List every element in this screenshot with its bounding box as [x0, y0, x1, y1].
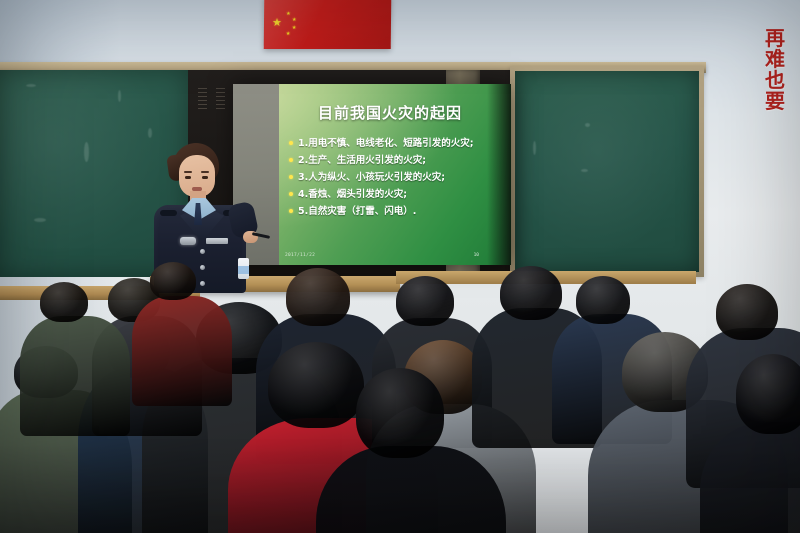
bullet-dot-icon: [289, 158, 293, 162]
list-item: 1.用电不慎、电线老化、短路引发的火灾;: [289, 137, 504, 150]
wall-motto: 再 难 也 要: [758, 28, 792, 112]
list-item: 4.香烛、烟头引发的火灾;: [289, 188, 504, 201]
motto-char-1: 再: [758, 28, 792, 49]
audience-person-head: [500, 266, 562, 320]
audience: [0, 250, 800, 533]
china-flag: ★ ★ ★ ★ ★: [264, 0, 392, 49]
bullet-text: 3.人为纵火、小孩玩火引发的火灾;: [298, 171, 445, 184]
bullet-text: 4.香烛、烟头引发的火灾;: [298, 188, 407, 201]
motto-char-4: 要: [758, 91, 792, 112]
flag-sheen: [264, 0, 392, 49]
bullet-text: 2.生产、生活用火引发的火灾;: [298, 154, 426, 167]
audience-person-head: [356, 368, 444, 458]
bullet-text: 5.自然灾害（打雷、闪电）.: [298, 205, 416, 218]
slide-title: 目前我国火灾的起因: [285, 102, 495, 123]
bullet-text: 1.用电不慎、电线老化、短路引发的火灾;: [298, 137, 474, 150]
bullet-dot-icon: [289, 141, 293, 145]
slide-content: 目前我国火灾的起因 1.用电不慎、电线老化、短路引发的火灾; 2.生产、生活用火…: [233, 84, 511, 265]
bullet-dot-icon: [289, 192, 293, 196]
bullet-dot-icon: [289, 209, 293, 213]
list-item: 2.生产、生活用火引发的火灾;: [289, 154, 504, 167]
list-item: 3.人为纵火、小孩玩火引发的火灾;: [289, 171, 504, 184]
uniform-nameplate: [206, 238, 228, 244]
classroom-scene: ★ ★ ★ ★ ★ 再 难 也 要: [0, 0, 800, 533]
audience-person-head: [396, 276, 454, 326]
audience-person-head: [716, 284, 778, 340]
audience-person-head: [576, 276, 630, 324]
list-item: 5.自然灾害（打雷、闪电）.: [289, 205, 504, 218]
motto-char-2: 难: [758, 49, 792, 70]
audience-person-head: [40, 282, 88, 322]
audience-person-head: [736, 354, 800, 434]
motto-char-3: 也: [758, 70, 792, 91]
slide-bullet-list: 1.用电不慎、电线老化、短路引发的火灾; 2.生产、生活用火引发的火灾; 3.人…: [289, 137, 504, 222]
bullet-dot-icon: [289, 175, 293, 179]
chalkboard-right-surface: [515, 71, 699, 272]
audience-person-body: [20, 316, 130, 436]
audience-person-head: [268, 342, 364, 428]
audience-person-head: [286, 268, 350, 326]
chalkboard-right-panel: [510, 66, 704, 277]
audience-person-head: [150, 262, 196, 300]
projected-slide: 目前我国火灾的起因 1.用电不慎、电线老化、短路引发的火灾; 2.生产、生活用火…: [233, 84, 511, 265]
uniform-badge-icon: [180, 237, 196, 245]
audience-person-body: [132, 296, 232, 406]
